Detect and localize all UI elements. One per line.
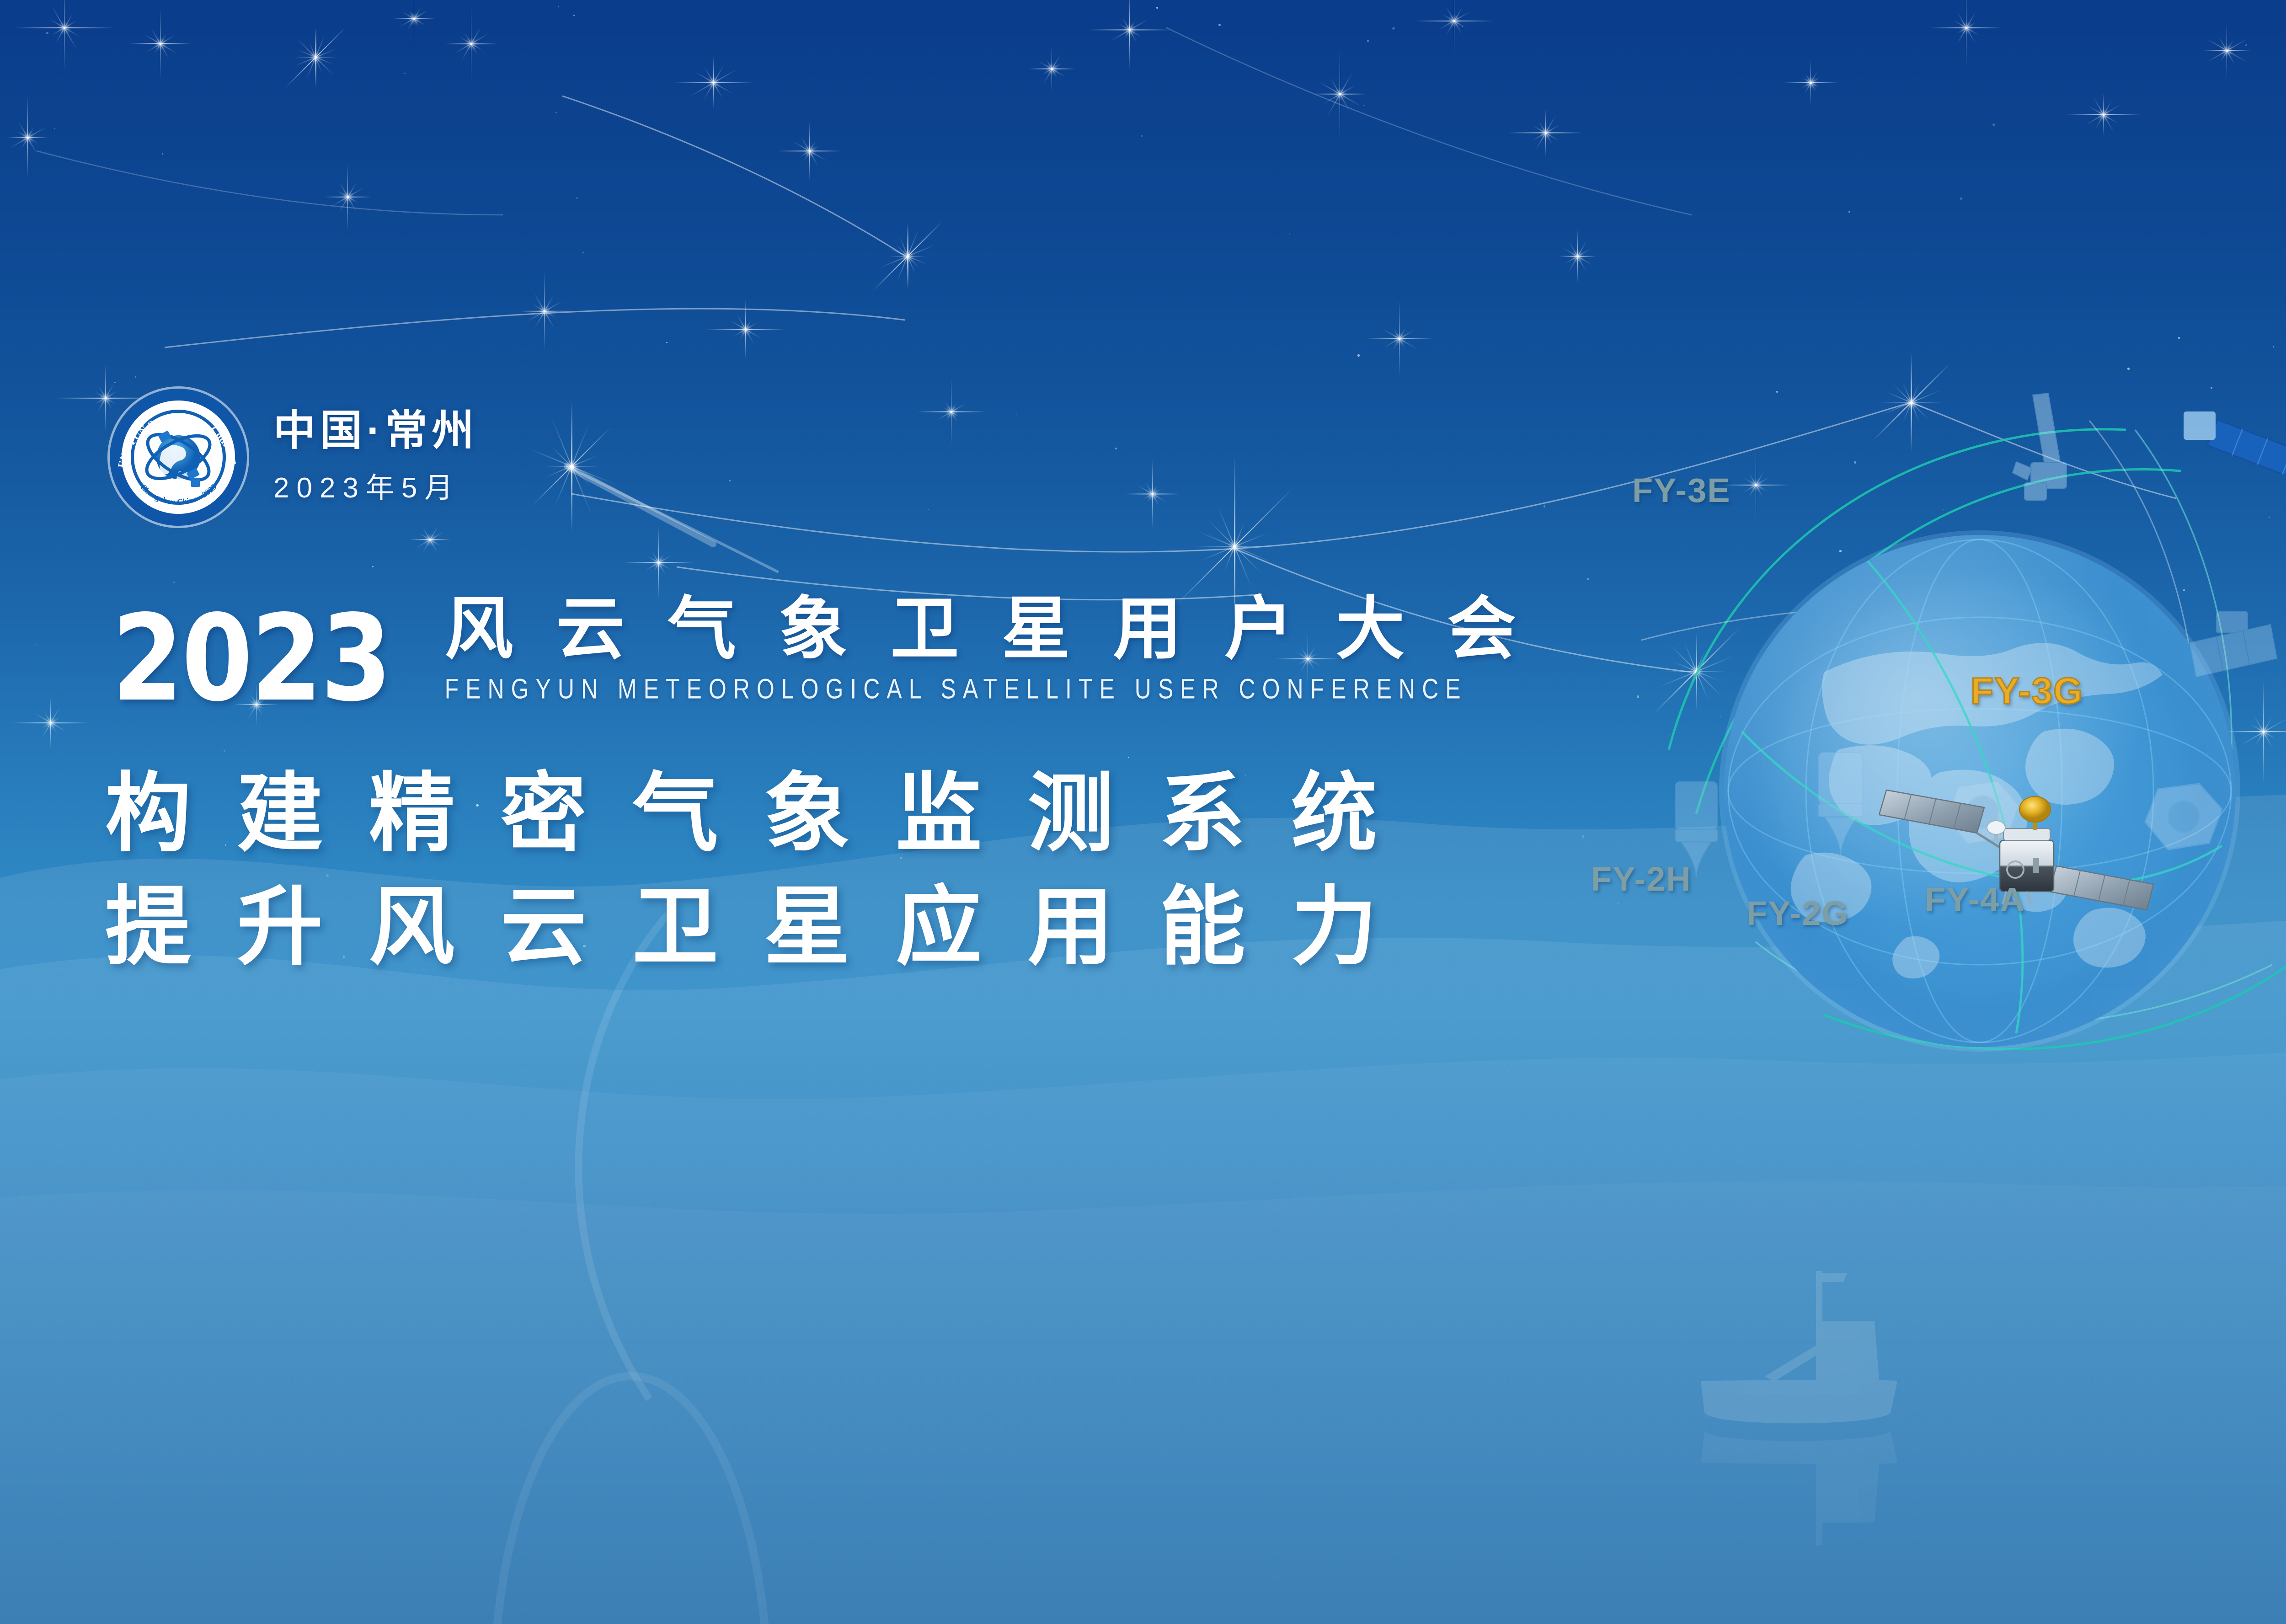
star-dot	[1156, 7, 1158, 9]
star-sparkle	[50, 722, 51, 723]
svg-text:Changzhou China · 2023: Changzhou China · 2023	[139, 482, 218, 506]
star-dot	[54, 128, 55, 129]
title-english: FENGYUN METEOROLOGICAL SATELLITE USER CO…	[445, 673, 1528, 705]
star-dot	[1218, 24, 1221, 26]
star-sparkle	[571, 466, 572, 467]
star-dot	[1582, 835, 1585, 838]
star-dot	[1367, 40, 1369, 42]
star-dot	[1848, 211, 1850, 213]
star-sparkle	[1052, 69, 1052, 69]
star-sparkle	[27, 137, 28, 138]
star-sparkle	[809, 151, 810, 151]
header-block: FENGYUN Satellite User Conference Changz…	[110, 389, 479, 526]
star-dot	[162, 153, 163, 154]
star-sparkle	[430, 540, 430, 540]
star-dot	[2211, 387, 2212, 389]
star-dot	[582, 252, 584, 254]
boat-silhouette	[1682, 1262, 1920, 1545]
ghost-satellite-fy3e	[1989, 393, 2094, 512]
satellite-label-fy-3g: FY-3G	[1971, 670, 2083, 713]
star-sparkle	[1152, 494, 1153, 494]
star-dot	[1357, 354, 1360, 357]
star-dot	[173, 582, 175, 583]
star-dot	[2273, 346, 2274, 347]
star-dot	[46, 32, 48, 34]
satellite-label-fy-4a: FY-4A	[1925, 880, 2025, 919]
gold-antenna-dish	[2019, 796, 2051, 830]
emblem-globe-icon	[140, 426, 216, 489]
star-dot	[404, 73, 405, 74]
emblem-artwork: FENGYUN Satellite User Conference Changz…	[110, 389, 247, 526]
satellite-label-fy-3e: FY-3E	[1632, 471, 1731, 510]
star-sparkle	[471, 43, 471, 44]
star-sparkle	[1234, 546, 1235, 547]
star-dot	[1141, 135, 1143, 137]
star-sparkle	[1129, 30, 1130, 30]
star-dot	[372, 566, 374, 567]
star-dot	[558, 6, 559, 7]
star-dot	[1587, 578, 1590, 581]
satellite-label-fy-2h: FY-2H	[1591, 860, 1692, 898]
emblem-arc-bottom-text: Changzhou China · 2023	[139, 482, 218, 506]
slogan-block: 构 建 精 密 气 象 监 测 系 统 提 升 风 云 卫 星 应 用 能 力	[105, 757, 1388, 983]
star-sparkle	[2227, 50, 2227, 51]
solar-panel-left	[1879, 790, 2002, 849]
city-name: 中国·常州	[273, 409, 479, 453]
satellite-label-fy-2g: FY-2G	[1747, 894, 1849, 933]
star-dot	[1363, 105, 1365, 107]
ghost-satellite-fy3c	[2181, 407, 2286, 503]
star-sparkle	[64, 27, 64, 28]
star-dot	[555, 112, 557, 113]
star-dot	[114, 382, 116, 383]
star-dot	[1992, 123, 1995, 126]
star-sparkle	[160, 43, 160, 44]
star-dot	[1115, 448, 1117, 449]
star-sparkle	[105, 398, 106, 398]
star-sparkle	[1340, 94, 1340, 94]
star-dot	[1618, 903, 1618, 904]
slogan-line-2: 提 升 风 云 卫 星 应 用 能 力	[105, 870, 1388, 983]
star-sparkle	[1399, 338, 1399, 339]
city-date-block: 中国·常州 2023年5月	[273, 409, 479, 506]
star-dot	[729, 480, 731, 481]
star-sparkle	[1811, 82, 1811, 83]
star-dot	[573, 15, 575, 16]
star-dot	[37, 644, 38, 645]
star-dot	[1544, 505, 1546, 507]
star-dot	[2178, 337, 2180, 339]
star-dot	[135, 376, 136, 377]
star-sparkle	[544, 311, 545, 311]
slogan-line-1: 构 建 精 密 气 象 监 测 系 统	[105, 757, 1388, 870]
main-title-row: 2023 风 云 气 象 卫 星 用 户 大 会 FENGYUN METEORO…	[112, 594, 1528, 708]
star-sparkle	[1454, 21, 1454, 21]
star-dot	[1462, 26, 1463, 27]
star-sparkle	[658, 562, 659, 563]
star-sparkle	[951, 411, 951, 412]
star-dot	[1776, 391, 1778, 393]
star-sparkle	[1545, 133, 1546, 133]
star-dot	[1637, 695, 1640, 698]
star-sparkle	[745, 329, 746, 330]
globe-satellite-scene: FY-3E FY-3C FY-3D FY-3G FY-2H FY-2G FY-4…	[1641, 402, 2286, 1134]
star-sparkle	[713, 82, 714, 83]
star-dot	[1016, 414, 1017, 415]
secondary-dish	[1987, 821, 2005, 840]
title-year: 2023	[112, 610, 390, 708]
comet-streak	[567, 466, 777, 572]
star-sparkle	[908, 256, 908, 256]
star-dot	[1392, 27, 1395, 30]
ghost-satellite-fy2g	[1797, 750, 1884, 864]
star-sparkle	[1577, 256, 1578, 256]
star-dot	[224, 750, 225, 752]
conference-emblem-logo: FENGYUN Satellite User Conference Changz…	[110, 389, 247, 526]
conference-poster: FENGYUN Satellite User Conference Changz…	[0, 0, 2286, 1624]
star-dot	[576, 197, 578, 199]
star-sparkle	[315, 57, 316, 58]
star-dot	[2245, 44, 2247, 46]
star-sparkle	[414, 18, 414, 19]
event-date: 2023年5月	[273, 465, 479, 506]
star-dot	[666, 342, 668, 343]
star-sparkle	[1966, 27, 1966, 28]
star-dot	[1289, 233, 1290, 235]
star-dot	[2127, 368, 2130, 370]
ghost-satellite-fy3d	[2163, 599, 2286, 709]
title-chinese: 风 云 气 象 卫 星 用 户 大 会	[445, 594, 1528, 663]
star-sparkle	[347, 197, 348, 197]
star-dot	[1960, 198, 1962, 200]
star-sparkle	[2103, 114, 2104, 115]
star-dot	[928, 509, 929, 510]
